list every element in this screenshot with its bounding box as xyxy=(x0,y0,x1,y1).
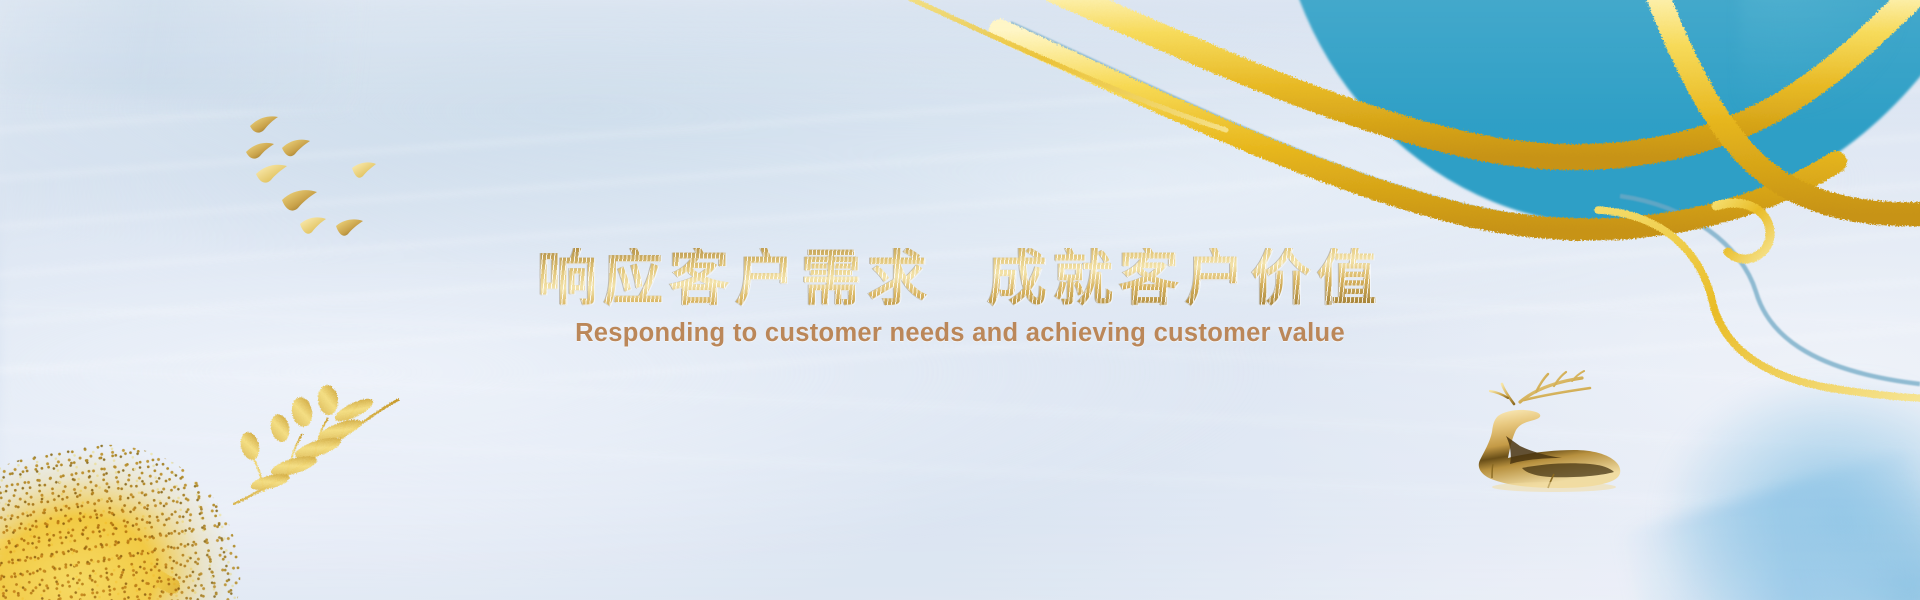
gold-leaf-branch xyxy=(228,378,418,513)
flying-birds xyxy=(248,108,398,238)
banner-copy: 响应客户需求 成就客户价值 Responding to customer nee… xyxy=(0,248,1920,348)
page-subtitle: Responding to customer needs and achievi… xyxy=(0,319,1920,348)
page-title: 响应客户需求 成就客户价值 xyxy=(0,248,1920,311)
golden-deer xyxy=(1462,372,1642,502)
hero-banner: 响应客户需求 成就客户价值 Responding to customer nee… xyxy=(0,0,1920,600)
